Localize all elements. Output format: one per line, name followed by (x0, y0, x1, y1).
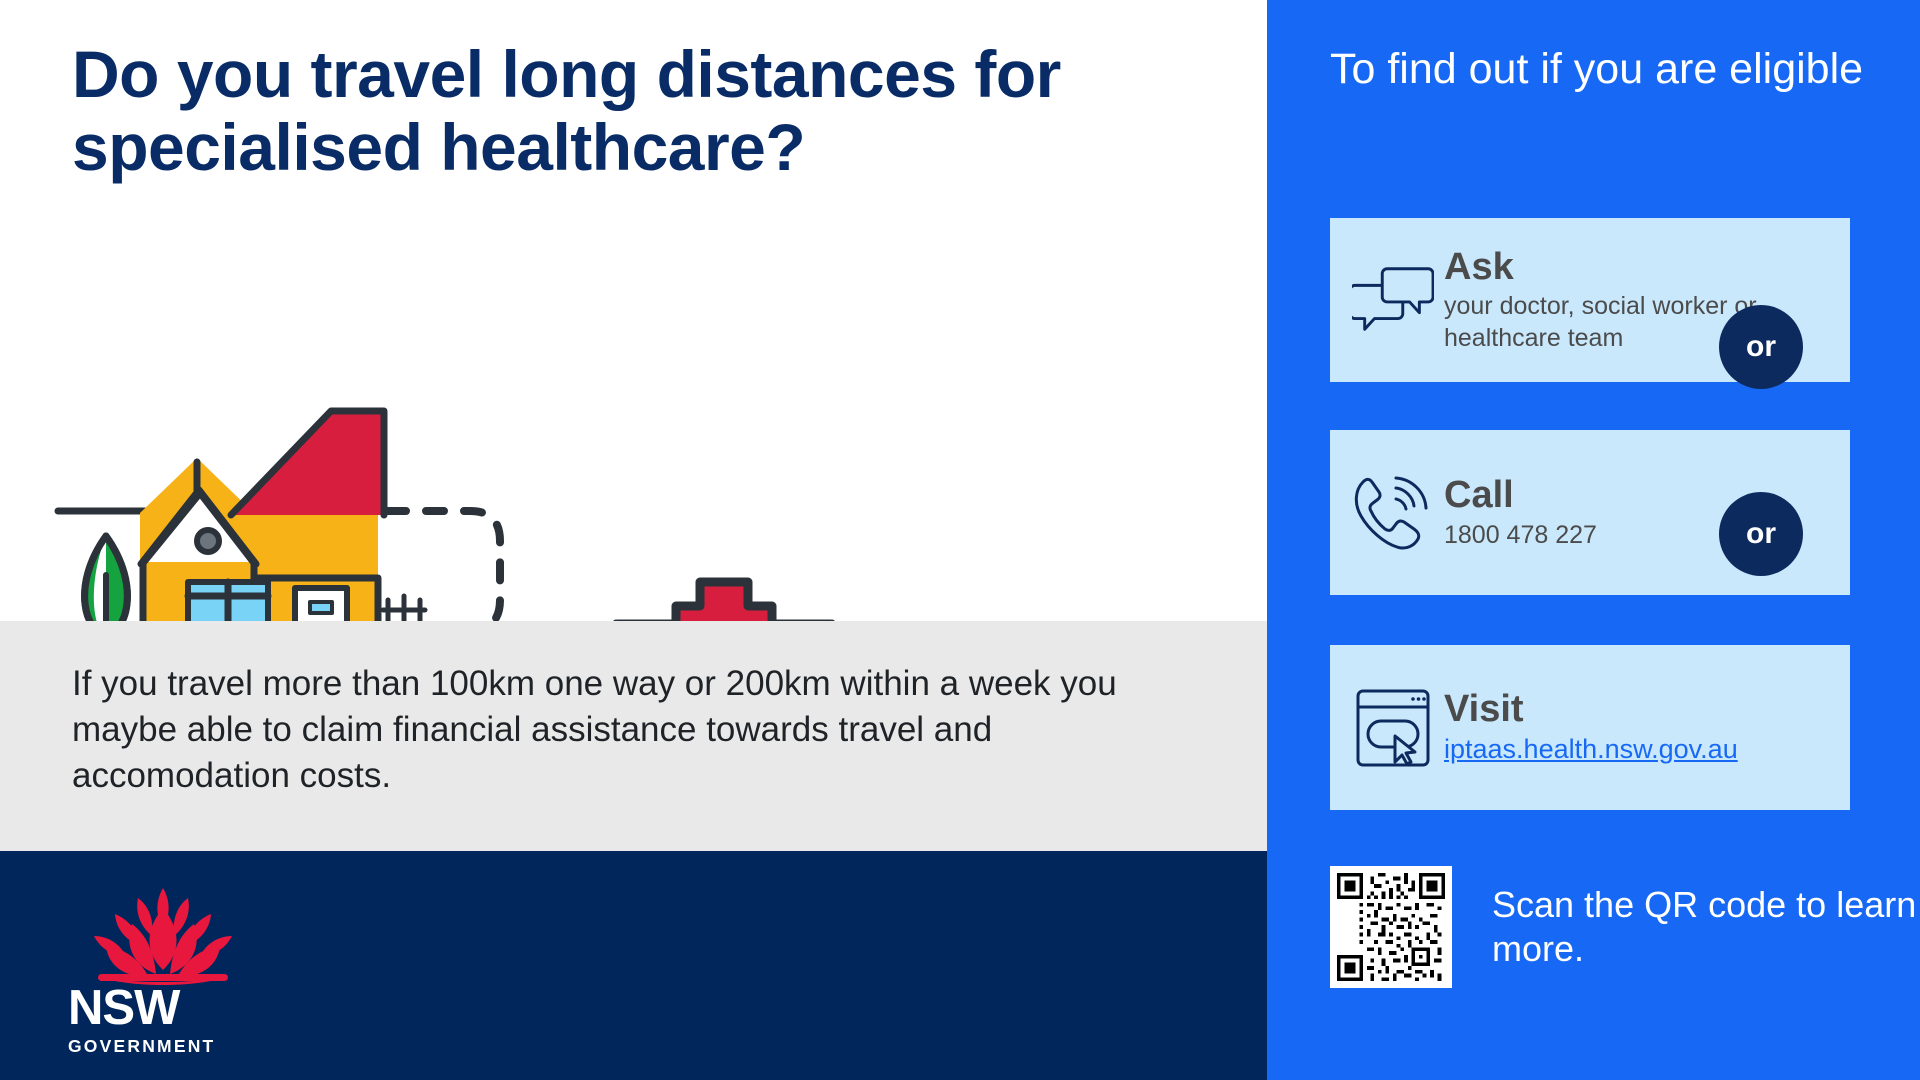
travel-illustration (0, 230, 1267, 630)
house-icon (140, 410, 425, 630)
or-badge-2: or (1719, 492, 1803, 576)
qr-instruction-text: Scan the QR code to learn more. (1492, 883, 1920, 971)
footer-bar: NSW GOVERNMENT (0, 851, 1267, 1080)
nsw-wordmark-primary: NSW (68, 984, 258, 1033)
qr-code-icon[interactable] (1330, 866, 1452, 988)
option-card-call-body: Call 1800 478 227 (1434, 474, 1611, 551)
left-column: Do you travel long distances for special… (0, 0, 1267, 1080)
browser-window-icon (1330, 688, 1434, 768)
or-badge-1: or (1719, 305, 1803, 389)
page-headline: Do you travel long distances for special… (72, 38, 1212, 185)
right-panel: To find out if you are eligible Ask your… (1267, 0, 1920, 1080)
option-card-visit-title: Visit (1444, 688, 1738, 731)
option-card-call-title: Call (1444, 474, 1597, 517)
iptaas-website-link[interactable]: iptaas.health.nsw.gov.au (1444, 733, 1738, 767)
nsw-wordmark: NSW GOVERNMENT (68, 984, 258, 1056)
right-panel-heading: To find out if you are eligible (1330, 44, 1890, 96)
tree-icon (85, 536, 128, 630)
qr-row: Scan the QR code to learn more. (1330, 866, 1920, 988)
option-card-visit-body: Visit iptaas.health.nsw.gov.au (1434, 688, 1752, 767)
phone-icon (1330, 474, 1434, 552)
option-card-visit[interactable]: Visit iptaas.health.nsw.gov.au (1330, 645, 1850, 810)
nsw-wordmark-secondary: GOVERNMENT (68, 1038, 258, 1056)
option-card-call-phone[interactable]: 1800 478 227 (1444, 520, 1597, 552)
option-card-ask-title: Ask (1444, 246, 1836, 289)
info-band: If you travel more than 100km one way or… (0, 621, 1267, 851)
info-text: If you travel more than 100km one way or… (72, 661, 1182, 800)
speech-bubbles-icon (1330, 265, 1434, 335)
